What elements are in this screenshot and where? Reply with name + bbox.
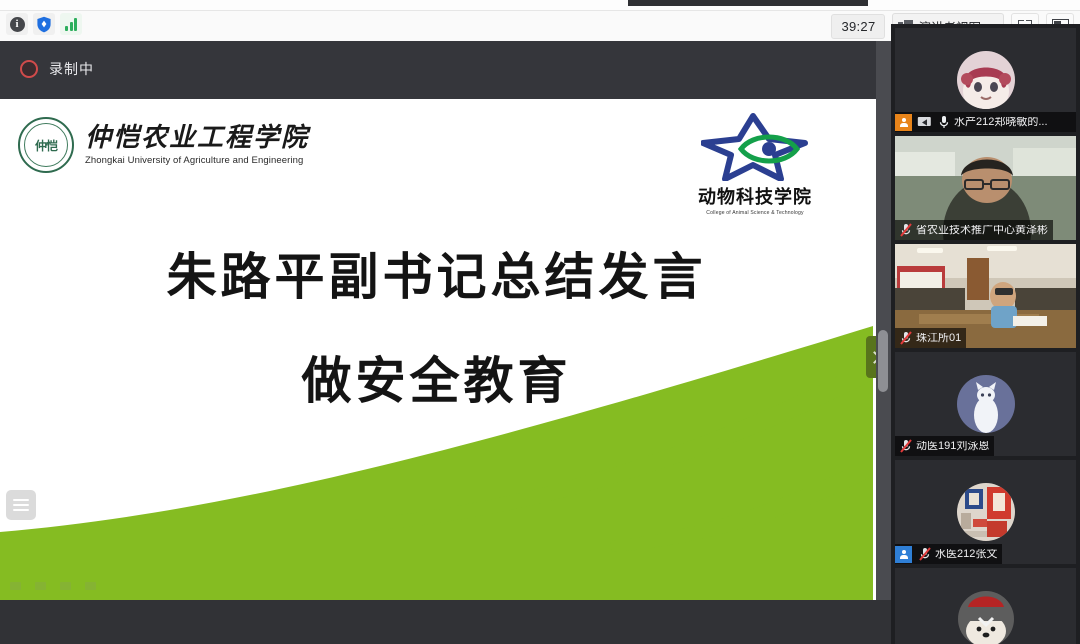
university-name-block: 仲恺农业工程学院 Zhongkai University of Agricult… (85, 124, 309, 165)
university-name-en: Zhongkai University of Agriculture and E… (85, 155, 309, 166)
college-mark-icon (701, 113, 809, 181)
avatar (957, 51, 1015, 109)
screen-share-icon (917, 116, 932, 129)
recording-bar: 录制中 (0, 41, 891, 99)
participant-name-bar: 水医212张文 (895, 544, 1002, 564)
slide-canvas: 仲恺 仲恺农业工程学院 Zhongkai University of Agric… (0, 99, 873, 600)
participant-name: 省农业技术推广中心黄泽彬 (915, 225, 1048, 236)
university-seal-icon: 仲恺 (18, 117, 74, 173)
participant-tile[interactable]: 动医191刘泳恩 (895, 352, 1076, 456)
recording-label: 录制中 (49, 59, 94, 79)
toolbar-left-group: i (6, 13, 82, 35)
security-button[interactable] (33, 13, 55, 35)
participant-tile[interactable]: 水产212郑晓敏的... (895, 28, 1076, 132)
ppt-more-icon (85, 582, 96, 590)
university-logo: 仲恺 仲恺农业工程学院 Zhongkai University of Agric… (18, 117, 309, 173)
participant-tile[interactable]: 水医212张文 (895, 460, 1076, 564)
info-icon: i (10, 17, 25, 32)
participant-name-bar: 省农业技术推广中心黄泽彬 (895, 220, 1053, 240)
mic-muted-icon (900, 439, 912, 453)
meeting-info-button[interactable]: i (6, 13, 28, 35)
participant-name-bar: 动医191刘泳恩 (895, 436, 994, 456)
recording-indicator[interactable]: 录制中 (20, 59, 94, 79)
meeting-bottom-bar (0, 600, 891, 644)
participant-name: 珠江所01 (915, 333, 961, 344)
college-logo: 动物科技学院 College of Animal Science & Techn… (695, 113, 815, 216)
filmstrip-scrollbar-thumb[interactable] (878, 330, 888, 392)
slide-title-line2: 做安全教育 (0, 353, 873, 411)
participant-tile[interactable]: 省农业技术推广中心黄泽彬 (895, 136, 1076, 240)
powerpoint-presenter-controls[interactable] (10, 582, 96, 590)
mic-muted-icon (900, 331, 912, 345)
mic-icon (938, 115, 950, 129)
shared-screen-slide[interactable]: 仲恺 仲恺农业工程学院 Zhongkai University of Agric… (0, 99, 873, 600)
avatar (957, 375, 1015, 433)
meeting-timer: 39:27 (831, 14, 885, 39)
participant-name: 动医191刘泳恩 (915, 441, 989, 452)
avatar (958, 591, 1014, 644)
participant-name: 水医212张文 (934, 549, 997, 560)
mic-muted-icon (919, 547, 931, 561)
college-name-en: College of Animal Science & Technology (700, 210, 810, 216)
avatar (957, 483, 1015, 541)
slide-title-block: 朱路平副书记总结发言 做安全教育 (0, 249, 873, 410)
university-name-cn: 仲恺农业工程学院 (85, 124, 309, 151)
participant-name: 水产212郑晓敏的... (953, 117, 1048, 128)
participant-name-bar: 水产212郑晓敏的... (895, 112, 1076, 132)
slide-menu-button[interactable] (6, 490, 36, 520)
ppt-pen-icon (35, 582, 46, 590)
window-chrome-dark-segment (628, 0, 868, 6)
participant-avatar-area (895, 568, 1076, 644)
mic-muted-icon (900, 223, 912, 237)
shield-icon (36, 16, 52, 33)
zoom-meeting-window: i 39:27 (0, 0, 1080, 644)
participant-tile[interactable]: 珠江所01 (895, 244, 1076, 348)
network-stats-button[interactable] (60, 13, 82, 35)
participant-filmstrip[interactable]: 水产212郑晓敏的... (891, 24, 1080, 644)
ppt-prev-icon (10, 582, 21, 590)
network-stats-icon (65, 18, 77, 31)
university-seal-text: 仲恺 (35, 137, 57, 154)
slide-menu-icon (13, 499, 29, 511)
participant-name-bar: 珠江所01 (895, 328, 966, 348)
record-dot-icon (20, 60, 38, 78)
host-badge-icon (895, 114, 912, 131)
participant-tile[interactable] (895, 568, 1076, 644)
slide-title-line1: 朱路平副书记总结发言 (0, 249, 873, 307)
college-name-cn: 动物科技学院 (695, 183, 815, 209)
cohost-badge-icon (895, 546, 912, 563)
ppt-grid-icon (60, 582, 71, 590)
